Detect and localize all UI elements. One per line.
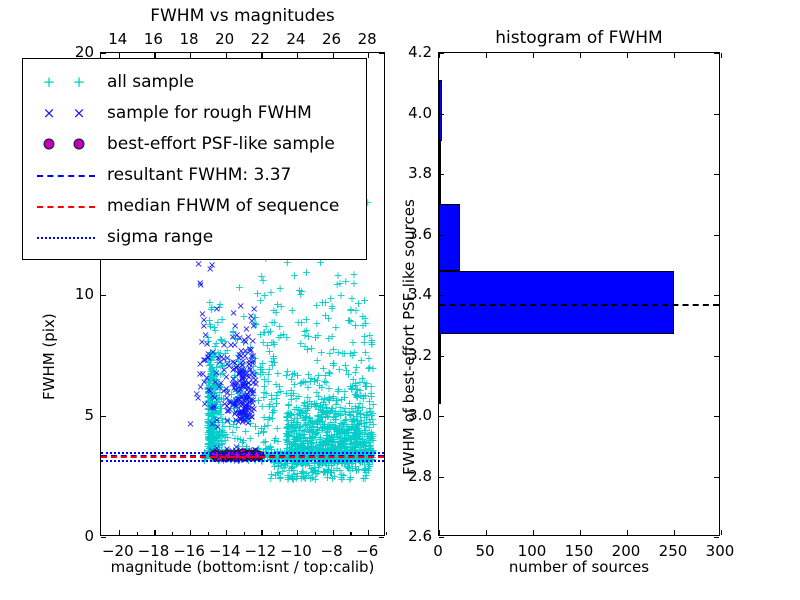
legend-key-dashed-line-icon xyxy=(31,164,107,186)
scatter-point-all-sample: + xyxy=(253,290,262,298)
scatter-point-all-sample: + xyxy=(284,421,293,429)
scatter-point-all-sample: + xyxy=(256,366,265,374)
scatter-point-all-sample: + xyxy=(204,412,213,420)
scatter-point-rough-fwhm: × xyxy=(245,380,253,388)
scatter-point-all-sample: + xyxy=(232,386,241,394)
scatter-point-all-sample: + xyxy=(322,432,331,440)
scatter-point-all-sample: + xyxy=(307,345,316,353)
scatter-point-all-sample: + xyxy=(239,437,248,445)
scatter-point-all-sample: + xyxy=(353,393,362,401)
scatter-point-all-sample: + xyxy=(294,319,303,327)
scatter-point-all-sample: + xyxy=(274,463,283,471)
scatter-point-all-sample: + xyxy=(319,408,328,416)
scatter-point-rough-fwhm: × xyxy=(244,334,252,342)
scatter-point-rough-fwhm: × xyxy=(239,358,247,366)
scatter-point-all-sample: + xyxy=(336,412,345,420)
scatter-point-all-sample: + xyxy=(267,339,276,347)
scatter-point-all-sample: + xyxy=(213,319,222,327)
legend-key-dashdot-line-icon xyxy=(31,226,107,248)
scatter-point-all-sample: + xyxy=(332,433,341,441)
scatter-point-all-sample: + xyxy=(318,418,327,426)
scatter-point-all-sample: + xyxy=(209,402,218,410)
scatter-point-all-sample: + xyxy=(298,442,307,450)
scatter-point-all-sample: + xyxy=(344,426,353,434)
scatter-point-all-sample: + xyxy=(332,431,341,439)
scatter-point-rough-fwhm: × xyxy=(236,416,244,424)
scatter-point-all-sample: + xyxy=(204,419,213,427)
scatter-point-all-sample: + xyxy=(335,428,344,436)
scatter-point-rough-fwhm: × xyxy=(245,394,253,402)
scatter-point-all-sample: + xyxy=(289,390,298,398)
scatter-point-all-sample: + xyxy=(272,392,281,400)
scatter-point-rough-fwhm: × xyxy=(241,408,249,416)
scatter-point-all-sample: + xyxy=(314,393,323,401)
scatter-point-all-sample: + xyxy=(213,381,222,389)
scatter-point-rough-fwhm: × xyxy=(250,306,258,314)
scatter-point-all-sample: + xyxy=(307,424,316,432)
scatter-point-all-sample: + xyxy=(312,400,321,408)
scatter-point-all-sample: + xyxy=(341,411,350,419)
scatter-point-all-sample: + xyxy=(323,423,332,431)
scatter-point-rough-fwhm: × xyxy=(196,361,204,369)
scatter-point-all-sample: + xyxy=(281,462,290,470)
scatter-point-all-sample: + xyxy=(367,341,376,349)
scatter-point-all-sample: + xyxy=(257,366,266,374)
scatter-point-all-sample: + xyxy=(319,469,328,477)
scatter-point-all-sample: + xyxy=(353,422,362,430)
scatter-point-rough-fwhm: × xyxy=(235,352,243,360)
scatter-point-all-sample: + xyxy=(290,370,299,378)
scatter-point-all-sample: + xyxy=(297,288,306,296)
scatter-point-all-sample: + xyxy=(298,414,307,422)
scatter-point-all-sample: + xyxy=(225,423,234,431)
scatter-point-rough-fwhm: × xyxy=(245,358,253,366)
histogram-bar[interactable] xyxy=(439,141,441,205)
scatter-point-all-sample: + xyxy=(256,297,265,305)
scatter-point-all-sample: + xyxy=(363,433,372,441)
x-minor-tick xyxy=(244,532,245,535)
scatter-point-all-sample: + xyxy=(297,470,306,478)
scatter-point-all-sample: + xyxy=(365,437,374,445)
scatter-point-all-sample: + xyxy=(230,363,239,371)
scatter-point-rough-fwhm: × xyxy=(200,323,208,331)
scatter-point-all-sample: + xyxy=(283,423,292,431)
scatter-point-all-sample: + xyxy=(295,410,304,418)
scatter-point-all-sample: + xyxy=(317,413,326,421)
top-tick-label: 28 xyxy=(358,30,377,48)
scatter-point-all-sample: + xyxy=(358,404,367,412)
scatter-point-all-sample: + xyxy=(214,353,223,361)
scatter-point-all-sample: + xyxy=(313,357,322,365)
scatter-point-all-sample: + xyxy=(352,440,361,448)
scatter-point-all-sample: + xyxy=(209,416,218,424)
scatter-point-all-sample: + xyxy=(356,411,365,419)
y-tick-mark xyxy=(101,416,106,417)
scatter-point-all-sample: + xyxy=(203,422,212,430)
scatter-point-all-sample: + xyxy=(207,419,216,427)
scatter-point-rough-fwhm: × xyxy=(246,367,254,375)
scatter-point-all-sample: + xyxy=(276,474,285,482)
scatter-point-all-sample: + xyxy=(283,413,292,421)
histogram-of-fwhm-plot[interactable] xyxy=(438,52,720,536)
scatter-point-all-sample: + xyxy=(355,410,364,418)
scatter-point-rough-fwhm: × xyxy=(238,409,246,417)
x-tick-mark xyxy=(627,53,628,58)
scatter-point-all-sample: + xyxy=(353,394,362,402)
scatter-point-all-sample: + xyxy=(311,476,320,484)
scatter-point-all-sample: + xyxy=(361,392,370,400)
scatter-point-all-sample: + xyxy=(352,426,361,434)
scatter-point-all-sample: + xyxy=(268,362,277,370)
scatter-point-rough-fwhm: × xyxy=(241,353,249,361)
scatter-point-all-sample: + xyxy=(219,370,228,378)
scatter-point-all-sample: + xyxy=(209,433,218,441)
scatter-point-all-sample: + xyxy=(331,416,340,424)
scatter-point-all-sample: + xyxy=(356,392,365,400)
scatter-point-all-sample: + xyxy=(357,357,366,365)
scatter-point-all-sample: + xyxy=(350,435,359,443)
legend-entry-1[interactable]: ××sample for rough FWHM xyxy=(31,97,358,128)
scatter-point-all-sample: + xyxy=(366,419,375,427)
scatter-point-all-sample: + xyxy=(269,353,278,361)
scatter-point-all-sample: + xyxy=(212,392,221,400)
y-tick-mark xyxy=(439,295,444,296)
scatter-point-all-sample: + xyxy=(295,443,304,451)
legend-entry-4[interactable]: median FHWM of sequence xyxy=(31,190,358,221)
scatter-point-all-sample: + xyxy=(289,428,298,436)
scatter-point-all-sample: + xyxy=(340,421,349,429)
scatter-point-rough-fwhm: × xyxy=(202,375,210,383)
scatter-point-all-sample: + xyxy=(208,428,217,436)
scatter-point-all-sample: + xyxy=(207,404,216,412)
scatter-point-rough-fwhm: × xyxy=(242,403,250,411)
scatter-point-all-sample: + xyxy=(204,418,213,426)
scatter-point-all-sample: + xyxy=(216,411,225,419)
scatter-point-rough-fwhm: × xyxy=(214,424,222,432)
scatter-point-all-sample: + xyxy=(208,389,217,397)
scatter-point-all-sample: + xyxy=(316,414,325,422)
scatter-point-all-sample: + xyxy=(264,371,273,379)
scatter-point-rough-fwhm: × xyxy=(250,372,258,380)
scatter-point-all-sample: + xyxy=(206,357,215,365)
legend-label: best-effort PSF-like sample xyxy=(107,134,335,154)
scatter-point-all-sample: + xyxy=(346,474,355,482)
scatter-point-all-sample: + xyxy=(299,440,308,448)
scatter-point-all-sample: + xyxy=(210,373,219,381)
scatter-point-all-sample: + xyxy=(205,382,214,390)
scatter-point-all-sample: + xyxy=(351,435,360,443)
scatter-point-all-sample: + xyxy=(292,404,301,412)
scatter-point-all-sample: + xyxy=(350,430,359,438)
scatter-point-all-sample: + xyxy=(211,384,220,392)
scatter-point-all-sample: + xyxy=(207,435,216,443)
scatter-point-rough-fwhm: × xyxy=(244,384,252,392)
scatter-point-all-sample: + xyxy=(283,432,292,440)
scatter-point-all-sample: + xyxy=(234,393,243,401)
scatter-point-all-sample: + xyxy=(355,417,364,425)
scatter-point-rough-fwhm: × xyxy=(229,367,237,375)
scatter-point-rough-fwhm: × xyxy=(241,382,249,390)
scatter-point-all-sample: + xyxy=(219,429,228,437)
scatter-point-all-sample: + xyxy=(205,427,214,435)
scatter-point-all-sample: + xyxy=(351,382,360,390)
scatter-point-all-sample: + xyxy=(300,428,309,436)
scatter-point-all-sample: + xyxy=(299,473,308,481)
scatter-point-all-sample: + xyxy=(352,440,361,448)
scatter-point-all-sample: + xyxy=(365,443,374,451)
legend-entry-3[interactable]: resultant FWHM: 3.37 xyxy=(31,159,358,190)
scatter-point-rough-fwhm: × xyxy=(235,355,243,363)
scatter-point-all-sample: + xyxy=(330,410,339,418)
scatter-point-all-sample: + xyxy=(340,435,349,443)
scatter-point-all-sample: + xyxy=(306,434,315,442)
scatter-point-all-sample: + xyxy=(346,318,355,326)
scatter-point-rough-fwhm: × xyxy=(223,418,231,426)
scatter-point-rough-fwhm: × xyxy=(241,413,249,421)
scatter-point-all-sample: + xyxy=(236,409,245,417)
scatter-point-all-sample: + xyxy=(283,431,292,439)
scatter-point-all-sample: + xyxy=(337,439,346,447)
scatter-point-rough-fwhm: × xyxy=(223,390,231,398)
scatter-point-rough-fwhm: × xyxy=(223,395,231,403)
scatter-point-all-sample: + xyxy=(297,379,306,387)
scatter-point-rough-fwhm: × xyxy=(215,384,223,392)
histogram-bar[interactable] xyxy=(439,204,460,271)
scatter-point-all-sample: + xyxy=(207,429,216,437)
x-tick-mark xyxy=(297,530,298,535)
scatter-point-rough-fwhm: × xyxy=(236,335,244,343)
scatter-point-all-sample: + xyxy=(210,350,219,358)
legend[interactable]: ++all sample××sample for rough FWHMbest-… xyxy=(22,58,367,260)
scatter-point-all-sample: + xyxy=(295,435,304,443)
scatter-point-rough-fwhm: × xyxy=(239,371,247,379)
scatter-point-rough-fwhm: × xyxy=(241,410,249,418)
legend-entry-0[interactable]: ++all sample xyxy=(31,66,358,97)
scatter-point-all-sample: + xyxy=(286,411,295,419)
scatter-point-rough-fwhm: × xyxy=(249,358,257,366)
scatter-point-all-sample: + xyxy=(205,392,214,400)
scatter-point-all-sample: + xyxy=(329,360,338,368)
scatter-point-all-sample: + xyxy=(325,350,334,358)
scatter-point-all-sample: + xyxy=(346,383,355,391)
scatter-point-all-sample: + xyxy=(352,413,361,421)
scatter-point-all-sample: + xyxy=(363,411,372,419)
scatter-point-all-sample: + xyxy=(235,407,244,415)
scatter-point-all-sample: + xyxy=(294,427,303,435)
top-tick-label: 18 xyxy=(180,30,199,48)
scatter-point-all-sample: + xyxy=(290,423,299,431)
scatter-point-rough-fwhm: × xyxy=(198,339,206,347)
scatter-point-all-sample: + xyxy=(311,334,320,342)
x-tick-mark xyxy=(226,530,227,535)
scatter-point-all-sample: + xyxy=(333,434,342,442)
top-tick-label: 20 xyxy=(215,30,234,48)
scatter-point-all-sample: + xyxy=(251,423,260,431)
scatter-point-all-sample: + xyxy=(205,440,214,448)
scatter-point-all-sample: + xyxy=(282,417,291,425)
histogram-bar[interactable] xyxy=(439,271,674,335)
scatter-point-all-sample: + xyxy=(212,376,221,384)
scatter-point-all-sample: + xyxy=(333,428,342,436)
scatter-point-all-sample: + xyxy=(302,269,311,277)
scatter-point-rough-fwhm: × xyxy=(243,392,251,400)
scatter-point-all-sample: + xyxy=(325,408,334,416)
scatter-point-all-sample: + xyxy=(205,376,214,384)
scatter-point-all-sample: + xyxy=(204,378,213,386)
scatter-point-all-sample: + xyxy=(280,461,289,469)
scatter-point-rough-fwhm: × xyxy=(235,378,243,386)
scatter-point-all-sample: + xyxy=(352,364,361,372)
y-tick-label: 4.0 xyxy=(394,104,432,122)
scatter-point-all-sample: + xyxy=(215,304,224,312)
scatter-point-all-sample: + xyxy=(206,437,215,445)
scatter-point-all-sample: + xyxy=(333,281,342,289)
scatter-point-all-sample: + xyxy=(323,428,332,436)
scatter-point-all-sample: + xyxy=(273,301,282,309)
scatter-point-all-sample: + xyxy=(203,384,212,392)
scatter-point-all-sample: + xyxy=(326,435,335,443)
scatter-point-all-sample: + xyxy=(287,465,296,473)
scatter-point-all-sample: + xyxy=(346,350,355,358)
scatter-point-all-sample: + xyxy=(334,349,343,357)
scatter-point-all-sample: + xyxy=(300,422,309,430)
scatter-point-rough-fwhm: × xyxy=(200,379,208,387)
scatter-point-all-sample: + xyxy=(350,436,359,444)
scatter-point-all-sample: + xyxy=(207,417,216,425)
scatter-point-all-sample: + xyxy=(346,441,355,449)
scatter-point-all-sample: + xyxy=(361,475,370,483)
scatter-point-all-sample: + xyxy=(218,427,227,435)
scatter-point-all-sample: + xyxy=(282,437,291,445)
scatter-point-all-sample: + xyxy=(347,385,356,393)
hline-median-fhwm-of-sequence xyxy=(101,456,384,458)
scatter-point-all-sample: + xyxy=(309,443,318,451)
scatter-point-all-sample: + xyxy=(207,443,216,451)
scatter-point-all-sample: + xyxy=(207,395,216,403)
scatter-point-all-sample: + xyxy=(268,415,277,423)
scatter-point-all-sample: + xyxy=(355,433,364,441)
scatter-point-all-sample: + xyxy=(337,396,346,404)
scatter-point-rough-fwhm: × xyxy=(210,403,218,411)
scatter-point-all-sample: + xyxy=(335,423,344,431)
scatter-point-all-sample: + xyxy=(331,424,340,432)
scatter-point-all-sample: + xyxy=(301,421,310,429)
scatter-point-all-sample: + xyxy=(317,414,326,422)
scatter-point-all-sample: + xyxy=(290,471,299,479)
scatter-point-all-sample: + xyxy=(268,409,277,417)
scatter-point-all-sample: + xyxy=(283,414,292,422)
scatter-point-all-sample: + xyxy=(343,464,352,472)
scatter-point-all-sample: + xyxy=(213,430,222,438)
scatter-point-all-sample: + xyxy=(241,411,250,419)
scatter-point-all-sample: + xyxy=(289,419,298,427)
scatter-point-rough-fwhm: × xyxy=(248,414,256,422)
scatter-point-all-sample: + xyxy=(350,439,359,447)
legend-key-plus-icon: ++ xyxy=(31,71,107,93)
scatter-point-all-sample: + xyxy=(266,443,275,451)
legend-entry-5[interactable]: sigma range xyxy=(31,221,358,252)
legend-label: median FHWM of sequence xyxy=(107,196,339,216)
scatter-point-rough-fwhm: × xyxy=(247,408,255,416)
scatter-point-all-sample: + xyxy=(214,417,223,425)
scatter-point-all-sample: + xyxy=(239,313,248,321)
scatter-point-rough-fwhm: × xyxy=(241,348,249,356)
scatter-point-rough-fwhm: × xyxy=(248,414,256,422)
scatter-point-all-sample: + xyxy=(206,444,215,452)
scatter-point-rough-fwhm: × xyxy=(249,360,257,368)
scatter-point-all-sample: + xyxy=(283,410,292,418)
scatter-point-all-sample: + xyxy=(265,366,274,374)
scatter-point-all-sample: + xyxy=(270,359,279,367)
scatter-point-all-sample: + xyxy=(209,410,218,418)
legend-entry-2[interactable]: best-effort PSF-like sample xyxy=(31,128,358,159)
scatter-point-rough-fwhm: × xyxy=(242,405,250,413)
scatter-point-all-sample: + xyxy=(316,419,325,427)
histogram-bar[interactable] xyxy=(439,80,442,141)
scatter-point-all-sample: + xyxy=(210,407,219,415)
scatter-point-all-sample: + xyxy=(355,400,364,408)
scatter-point-rough-fwhm: × xyxy=(238,401,246,409)
scatter-point-all-sample: + xyxy=(364,439,373,447)
scatter-point-all-sample: + xyxy=(206,383,215,391)
scatter-point-all-sample: + xyxy=(214,349,223,357)
scatter-point-rough-fwhm: × xyxy=(204,355,212,363)
scatter-point-all-sample: + xyxy=(312,402,321,410)
scatter-point-all-sample: + xyxy=(205,393,214,401)
scatter-point-all-sample: + xyxy=(285,441,294,449)
scatter-point-all-sample: + xyxy=(358,436,367,444)
scatter-point-all-sample: + xyxy=(306,437,315,445)
scatter-point-all-sample: + xyxy=(312,470,321,478)
scatter-point-all-sample: + xyxy=(353,417,362,425)
scatter-point-rough-fwhm: × xyxy=(196,280,204,288)
x-tick-mark xyxy=(627,530,628,535)
scatter-point-all-sample: + xyxy=(225,398,234,406)
scatter-point-all-sample: + xyxy=(237,390,246,398)
scatter-point-all-sample: + xyxy=(351,322,360,330)
scatter-point-all-sample: + xyxy=(208,413,217,421)
scatter-point-all-sample: + xyxy=(319,409,328,417)
scatter-point-all-sample: + xyxy=(214,394,223,402)
legend-label: sigma range xyxy=(107,227,213,247)
scatter-point-all-sample: + xyxy=(341,362,350,370)
scatter-point-rough-fwhm: × xyxy=(216,359,224,367)
scatter-point-all-sample: + xyxy=(331,324,340,332)
scatter-point-all-sample: + xyxy=(300,414,309,422)
scatter-point-all-sample: + xyxy=(307,426,316,434)
scatter-point-all-sample: + xyxy=(306,443,315,451)
scatter-point-all-sample: + xyxy=(350,349,359,357)
scatter-point-all-sample: + xyxy=(311,444,320,452)
scatter-point-rough-fwhm: × xyxy=(201,401,209,409)
scatter-point-all-sample: + xyxy=(209,382,218,390)
scatter-point-all-sample: + xyxy=(296,440,305,448)
scatter-point-all-sample: + xyxy=(344,371,353,379)
scatter-point-all-sample: + xyxy=(334,410,343,418)
scatter-point-all-sample: + xyxy=(332,428,341,436)
scatter-point-all-sample: + xyxy=(203,406,212,414)
histogram-bar[interactable] xyxy=(439,334,441,404)
scatter-point-all-sample: + xyxy=(304,472,313,480)
scatter-point-all-sample: + xyxy=(212,364,221,372)
scatter-point-all-sample: + xyxy=(358,436,367,444)
scatter-point-all-sample: + xyxy=(215,442,224,450)
scatter-point-all-sample: + xyxy=(207,417,216,425)
scatter-point-all-sample: + xyxy=(302,410,311,418)
scatter-point-all-sample: + xyxy=(208,442,217,450)
scatter-point-all-sample: + xyxy=(354,442,363,450)
scatter-point-all-sample: + xyxy=(358,429,367,437)
